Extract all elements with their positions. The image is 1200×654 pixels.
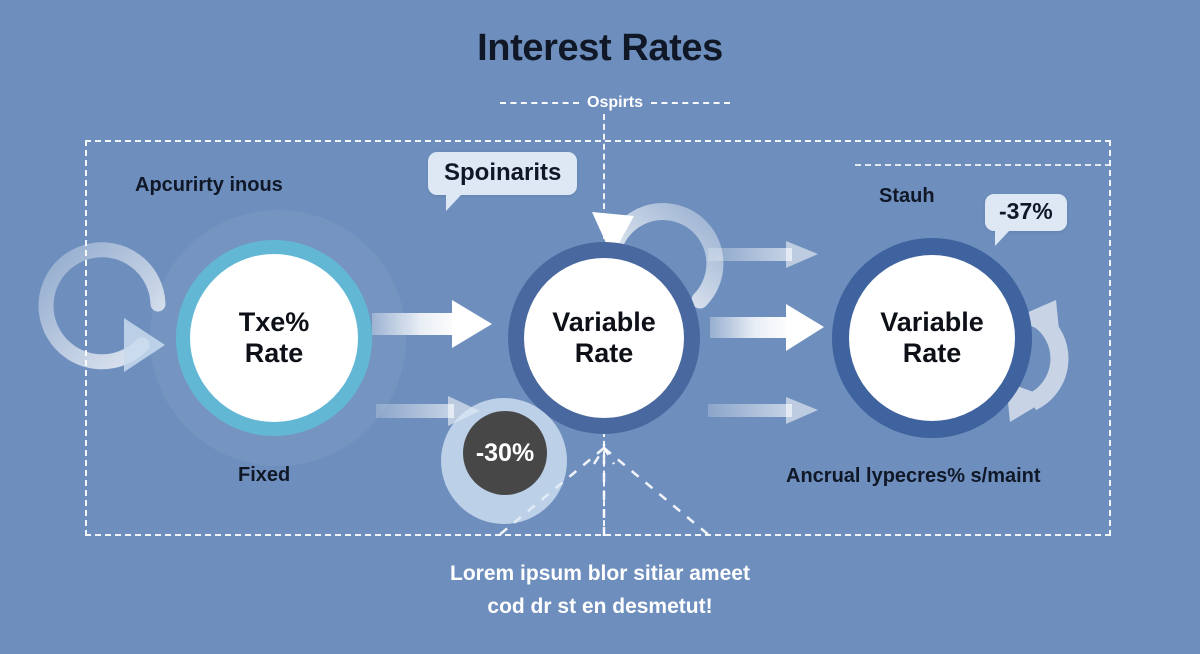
footer-caption: Lorem ipsum blor sitiar ameet cod dr st …: [300, 558, 900, 623]
node-core-variable-1[interactable]: Variable Rate: [524, 258, 684, 418]
node-core-text-line1: Txe%: [239, 307, 310, 337]
callout-spoinarits[interactable]: Spoinarits: [428, 152, 577, 195]
diagram-canvas: Interest Rates Ospirts: [0, 0, 1200, 654]
callout-minus-37[interactable]: -37%: [985, 194, 1067, 231]
footer-caption-line1: Lorem ipsum blor sitiar ameet: [300, 558, 900, 591]
node-core-fixed[interactable]: Txe% Rate: [190, 254, 358, 422]
node-top-label-fixed: Apcurirty inous: [135, 174, 283, 197]
node-core-variable-2[interactable]: Variable Rate: [849, 255, 1015, 421]
node-bottom-label-fixed: Fixed: [238, 464, 290, 487]
node-core-text-line1: Variable: [552, 307, 656, 337]
node-core-text-line2: Rate: [245, 338, 304, 368]
node-core-text-line2: Rate: [903, 338, 962, 368]
node-bottom-label-variable-2: Ancrual lypecres% s/maint: [786, 465, 1041, 488]
flow-arrow-2-faint-lower: [708, 397, 818, 424]
node-top-label-variable-2: Stauh: [879, 185, 935, 208]
flow-arrow-2-main: [710, 304, 824, 351]
flow-arrow-2-faint-upper: [708, 241, 818, 268]
self-loop-arrow-left: [46, 250, 165, 372]
node-core-text-line1: Variable: [880, 307, 984, 337]
footer-caption-line2: cod dr st en desmetut!: [300, 591, 900, 624]
badge-drop-30[interactable]: -30%: [463, 411, 547, 495]
node-core-text-line2: Rate: [575, 338, 634, 368]
